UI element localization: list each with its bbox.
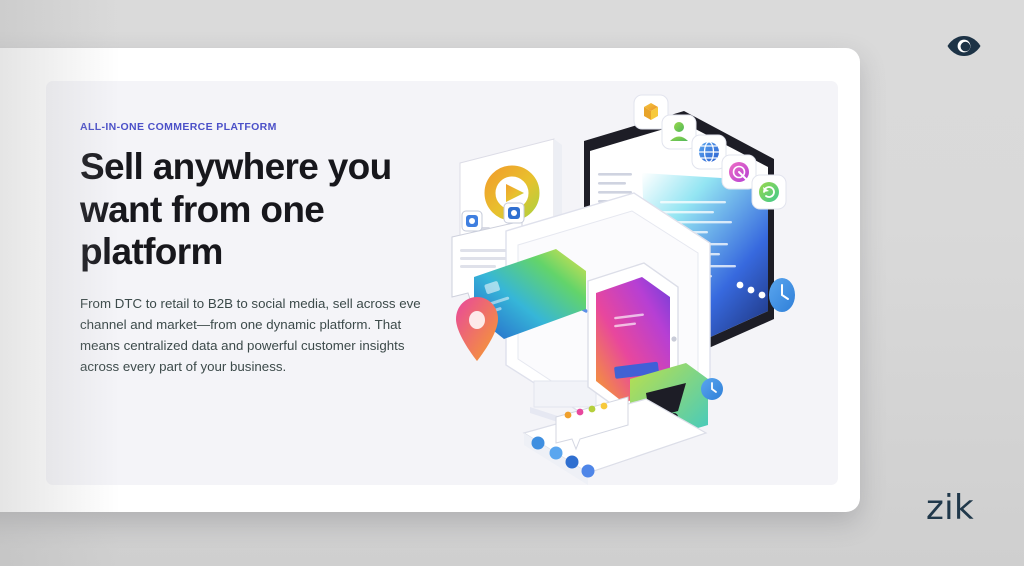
clock-icon bbox=[769, 278, 795, 312]
brand-wordmark: zik bbox=[926, 488, 974, 528]
app-tile-refresh bbox=[752, 175, 786, 209]
map-pin-icon bbox=[456, 297, 498, 361]
eye-icon[interactable] bbox=[946, 33, 982, 59]
eyebrow-label: ALL-IN-ONE COMMERCE PLATFORM bbox=[80, 121, 432, 133]
social-icon-1 bbox=[462, 211, 482, 231]
hero-panel: ALL-IN-ONE COMMERCE PLATFORM Sell anywhe… bbox=[0, 48, 860, 512]
page-background: ALL-IN-ONE COMMERCE PLATFORM Sell anywhe… bbox=[0, 0, 1024, 566]
app-tile-target bbox=[722, 155, 756, 189]
hero-illustration bbox=[438, 81, 838, 485]
app-tile-person bbox=[662, 115, 696, 149]
social-icon-2 bbox=[504, 203, 524, 223]
app-tile-globe bbox=[692, 135, 726, 169]
hero-copy: ALL-IN-ONE COMMERCE PLATFORM Sell anywhe… bbox=[80, 121, 432, 377]
hero-description: From DTC to retail to B2B to social medi… bbox=[80, 293, 432, 377]
page-title: Sell anywhere you want from one platform bbox=[80, 146, 410, 274]
hero-card: ALL-IN-ONE COMMERCE PLATFORM Sell anywhe… bbox=[46, 81, 838, 485]
